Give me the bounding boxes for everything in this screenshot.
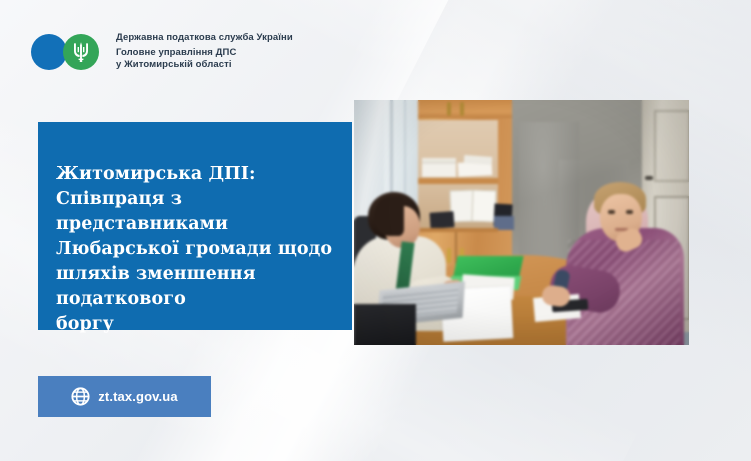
headline-panel: Житомирська ДПІ: Співпраця з представник… [38, 122, 352, 330]
brand-line-2: Головне управління ДПС [116, 47, 293, 60]
brand-text-block: Державна податкова служба України Головн… [116, 33, 293, 72]
article-photo [354, 100, 689, 345]
brand-line-1: Державна податкова служба України [116, 33, 293, 43]
website-url-button[interactable]: zt.tax.gov.ua [38, 376, 211, 417]
slide-canvas: Державна податкова служба України Головн… [0, 0, 751, 461]
logo-marks [31, 34, 103, 70]
brand-header: Державна податкова служба України Головн… [31, 33, 293, 72]
brand-line-3: у Житомирській області [116, 59, 293, 72]
logo-blue-circle-icon [31, 34, 67, 70]
ukraine-trident-icon [72, 41, 90, 63]
logo-green-circle-icon [63, 34, 99, 70]
website-url-label: zt.tax.gov.ua [98, 389, 177, 404]
globe-icon [71, 387, 90, 406]
photo-vignette [354, 100, 689, 345]
headline-title: Житомирська ДПІ: Співпраця з представник… [56, 162, 338, 337]
